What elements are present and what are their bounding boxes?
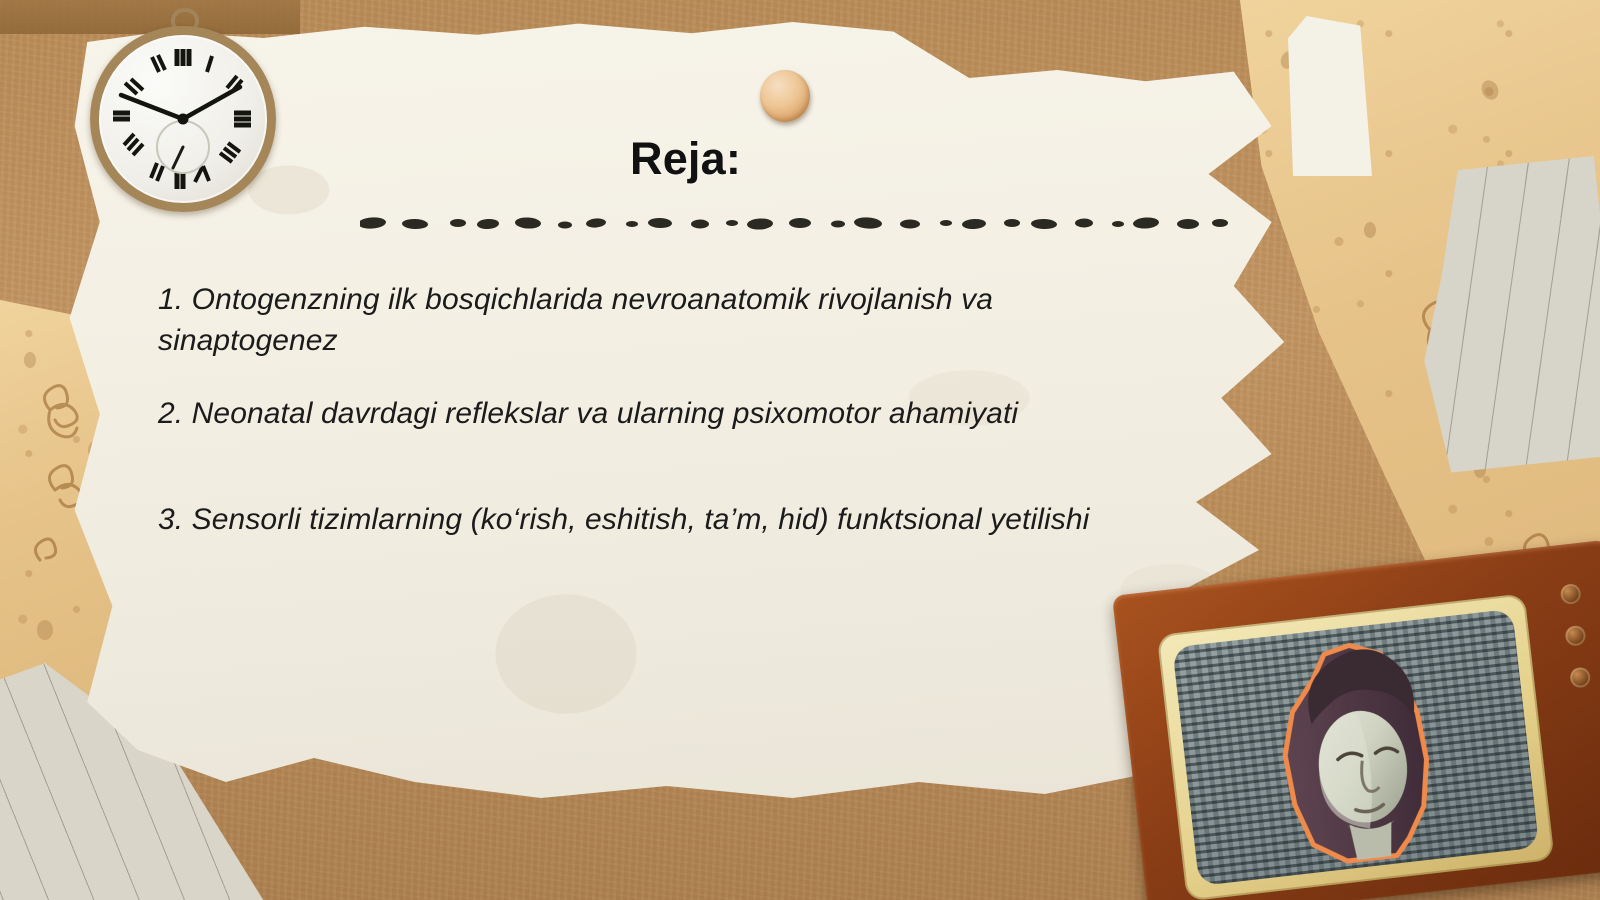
list-item: 3. Sensorli tizimlarning (ko‘rish, eshit… bbox=[158, 500, 1118, 541]
vintage-television bbox=[1112, 539, 1600, 900]
list-item: 2. Neonatal davrdagi reflekslar va ularn… bbox=[158, 394, 1118, 435]
page-title: Reja: bbox=[630, 133, 741, 185]
tv-knob-icon[interactable] bbox=[1564, 625, 1586, 647]
wall-clock bbox=[90, 8, 280, 218]
slide-canvas: Reja: bbox=[0, 0, 1600, 900]
pushpin-icon bbox=[760, 70, 810, 122]
dashed-divider bbox=[360, 206, 1230, 238]
clock-face bbox=[90, 26, 276, 212]
tv-screen bbox=[1172, 609, 1539, 886]
white-paper-fragment-top-right bbox=[1288, 16, 1372, 176]
tv-bezel bbox=[1157, 593, 1555, 900]
tv-knob-icon[interactable] bbox=[1569, 666, 1591, 688]
clock-dial-icon bbox=[99, 35, 267, 203]
sculpture-bust-icon bbox=[1172, 609, 1539, 886]
tv-knob-icon[interactable] bbox=[1560, 583, 1582, 605]
agenda-list: 1. Ontogenzning ilk bosqichlarida nevroa… bbox=[158, 280, 1118, 541]
list-item: 1. Ontogenzning ilk bosqichlarida nevroa… bbox=[158, 280, 1118, 362]
